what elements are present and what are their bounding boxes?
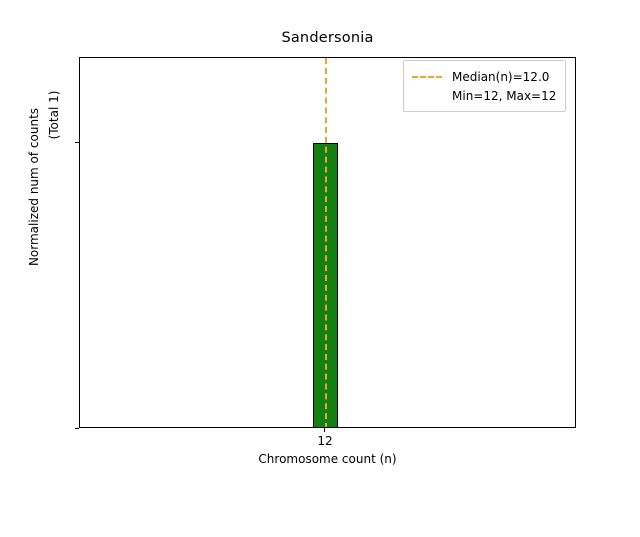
y-axis-label: Normalized num of counts	[27, 0, 41, 537]
x-axis-label: Chromosome count (n)	[79, 452, 576, 466]
y-tick-mark-0	[75, 428, 79, 429]
legend-label-minmax: Min=12, Max=12	[452, 89, 556, 103]
legend-item-minmax: Min=12, Max=12	[412, 86, 556, 105]
plot-area	[79, 57, 576, 428]
y-axis-label-note: (Total 1)	[47, 0, 61, 465]
median-line	[325, 58, 327, 427]
legend-label-median: Median(n)=12.0	[452, 70, 549, 84]
chart-title: Sandersonia	[79, 30, 576, 46]
dashed-line-icon	[412, 76, 442, 78]
x-tick-label-12: 12	[295, 434, 355, 448]
chart-legend: Median(n)=12.0 Min=12, Max=12	[403, 60, 566, 112]
x-tick-mark-12	[324, 428, 325, 432]
chart-figure: Sandersonia Normalized num of counts (To…	[0, 0, 640, 480]
legend-item-median: Median(n)=12.0	[412, 67, 556, 86]
plot-inner	[80, 58, 575, 427]
